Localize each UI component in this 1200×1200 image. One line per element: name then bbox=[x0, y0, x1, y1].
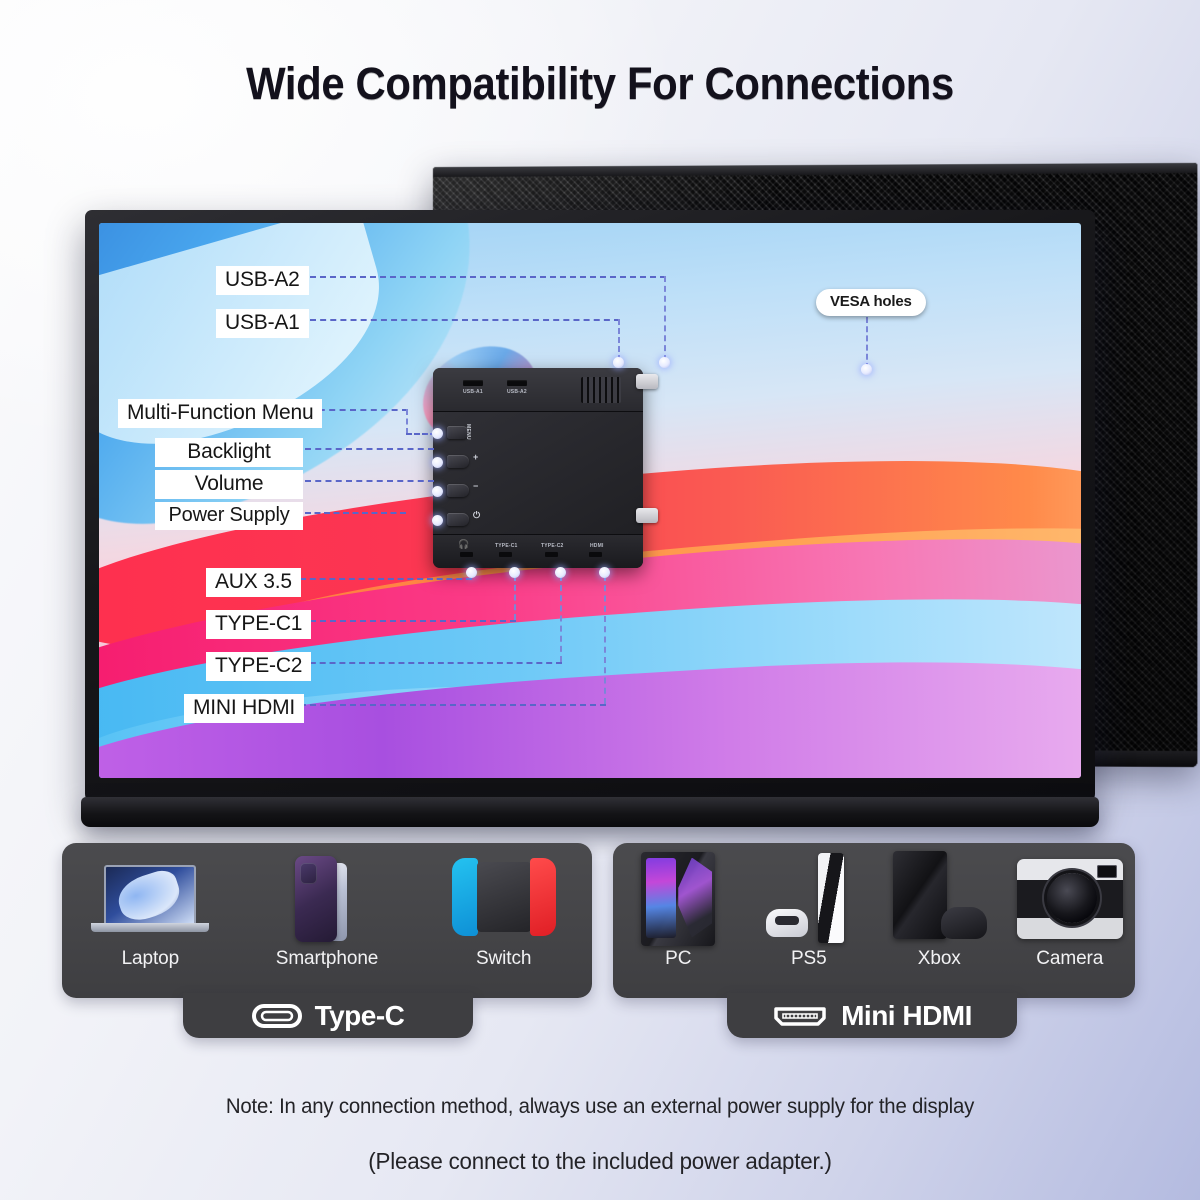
minus-button[interactable] bbox=[447, 484, 469, 497]
game-console-icon bbox=[452, 843, 556, 948]
type-c-badge-label: Type-C bbox=[315, 1000, 405, 1032]
connector-usb-a2 bbox=[310, 276, 666, 278]
usb-c-port-icon bbox=[252, 1003, 302, 1029]
device-pc[interactable]: PC bbox=[613, 843, 744, 970]
connector-dot-power-supply bbox=[432, 515, 443, 526]
device-label: PS5 bbox=[791, 948, 827, 970]
connector-backlight bbox=[305, 448, 434, 450]
connector-mini-hdmi bbox=[300, 704, 606, 706]
plus-button[interactable] bbox=[447, 455, 469, 468]
mini-hdmi-port bbox=[589, 552, 602, 557]
type-c-device-list: Laptop Smartphone Switch bbox=[62, 843, 592, 998]
type-c1-port bbox=[499, 552, 512, 557]
connector-dot-usb-a1 bbox=[613, 357, 624, 368]
mini-hdmi-badge-label: Mini HDMI bbox=[841, 1000, 972, 1032]
smartphone-icon bbox=[295, 843, 359, 948]
connector-dot-type-c1 bbox=[509, 567, 520, 578]
playstation-icon bbox=[766, 843, 852, 948]
connector-volume bbox=[305, 480, 434, 482]
menu-button-label: MENU bbox=[465, 424, 471, 440]
hdmi-port-icon bbox=[772, 1003, 828, 1029]
io-label-type-c2: TYPE-C2 bbox=[541, 543, 564, 549]
connector-dot-backlight bbox=[432, 457, 443, 468]
page-title: Wide Compatibility For Connections bbox=[42, 58, 1158, 110]
device-label: Xbox bbox=[918, 948, 961, 970]
connector-dot-volume bbox=[432, 486, 443, 497]
connector-type-c2-drop bbox=[560, 575, 562, 662]
connector-type-c1 bbox=[300, 620, 516, 622]
io-label-usb-a2: USB-A2 bbox=[507, 389, 527, 395]
mini-hdmi-device-list: PC PS5 Xbox Camera bbox=[613, 843, 1135, 998]
device-label: Laptop bbox=[122, 948, 180, 970]
usb-c-connector-bottom bbox=[636, 508, 658, 523]
io-label-hdmi: HDMI bbox=[590, 543, 604, 549]
callout-vesa-holes: VESA holes bbox=[816, 289, 926, 316]
camera-icon bbox=[1017, 843, 1123, 948]
compatibility-panels: Laptop Smartphone Switch bbox=[0, 843, 1200, 1058]
callout-volume: Volume bbox=[155, 470, 303, 499]
connector-dot-usb-a2 bbox=[659, 357, 670, 368]
device-xbox[interactable]: Xbox bbox=[874, 843, 1005, 970]
xbox-icon bbox=[891, 843, 987, 948]
callout-usb-a1: USB-A1 bbox=[216, 309, 309, 338]
io-side-surface: MENU + − ⏻ bbox=[433, 412, 643, 534]
device-label: Smartphone bbox=[276, 948, 379, 970]
vesa-connector-line bbox=[866, 317, 868, 369]
vesa-connector-dot bbox=[861, 364, 872, 375]
callout-type-c2: TYPE-C2 bbox=[206, 652, 311, 681]
desktop-tower-icon bbox=[641, 843, 715, 948]
device-camera[interactable]: Camera bbox=[1005, 843, 1136, 970]
callout-mini-hdmi: MINI HDMI bbox=[184, 694, 304, 723]
monitor-base bbox=[81, 797, 1099, 827]
io-port-module: USB-A1 USB-A2 MENU + − ⏻ 🎧 TYPE-C1 TYPE-… bbox=[433, 368, 643, 568]
io-label-usb-a1: USB-A1 bbox=[463, 389, 483, 395]
connector-mini-hdmi-drop bbox=[604, 575, 606, 704]
callout-usb-a2: USB-A2 bbox=[216, 266, 309, 295]
minus-button-label: − bbox=[473, 481, 478, 491]
connector-type-c2 bbox=[300, 662, 562, 664]
usb-a2-port bbox=[507, 380, 527, 386]
connector-aux bbox=[300, 578, 472, 580]
mini-hdmi-device-panel: PC PS5 Xbox Camera bbox=[613, 843, 1135, 998]
connector-dot-menu bbox=[432, 428, 443, 439]
io-bottom-surface: 🎧 TYPE-C1 TYPE-C2 HDMI bbox=[433, 534, 643, 568]
device-ps5[interactable]: PS5 bbox=[744, 843, 875, 970]
footer-note-secondary: (Please connect to the included power ad… bbox=[18, 1148, 1182, 1175]
device-switch[interactable]: Switch bbox=[415, 843, 592, 970]
callout-type-c1: TYPE-C1 bbox=[206, 610, 311, 639]
usb-c-connector-top bbox=[636, 374, 658, 389]
io-label-type-c1: TYPE-C1 bbox=[495, 543, 518, 549]
aux-port bbox=[460, 552, 473, 557]
footer-note-primary: Note: In any connection method, always u… bbox=[18, 1095, 1182, 1119]
connector-dot-type-c2 bbox=[555, 567, 566, 578]
callout-power-supply: Power Supply bbox=[155, 502, 303, 530]
device-smartphone[interactable]: Smartphone bbox=[239, 843, 416, 970]
connector-dot-aux bbox=[466, 567, 477, 578]
mini-hdmi-badge: Mini HDMI bbox=[727, 993, 1017, 1038]
connector-power-supply bbox=[305, 512, 406, 514]
connector-menu-drop bbox=[406, 409, 408, 434]
callout-aux: AUX 3.5 bbox=[206, 568, 301, 597]
vent-grille-icon bbox=[581, 377, 621, 403]
connector-dot-mini-hdmi bbox=[599, 567, 610, 578]
device-laptop[interactable]: Laptop bbox=[62, 843, 239, 970]
connector-usb-a1-drop bbox=[618, 319, 620, 361]
io-top-surface: USB-A1 USB-A2 bbox=[433, 368, 643, 412]
device-label: PC bbox=[665, 948, 691, 970]
power-button-label: ⏻ bbox=[473, 510, 480, 521]
type-c-device-panel: Laptop Smartphone Switch bbox=[62, 843, 592, 998]
power-button[interactable] bbox=[447, 513, 469, 526]
headphone-icon: 🎧 bbox=[458, 539, 469, 550]
connector-usb-a2-drop bbox=[664, 276, 666, 361]
callout-backlight: Backlight bbox=[155, 438, 303, 467]
laptop-icon bbox=[91, 843, 209, 948]
connector-usb-a1 bbox=[310, 319, 620, 321]
type-c-badge: Type-C bbox=[183, 993, 473, 1038]
device-label: Switch bbox=[476, 948, 531, 970]
usb-a1-port bbox=[463, 380, 483, 386]
callout-multi-function-menu: Multi-Function Menu bbox=[118, 399, 322, 428]
plus-button-label: + bbox=[473, 452, 478, 462]
type-c2-port bbox=[545, 552, 558, 557]
device-label: Camera bbox=[1036, 948, 1103, 970]
connector-type-c1-drop bbox=[514, 575, 516, 620]
product-scene: VESA holes USB-A1 USB-A2 bbox=[0, 150, 1200, 830]
